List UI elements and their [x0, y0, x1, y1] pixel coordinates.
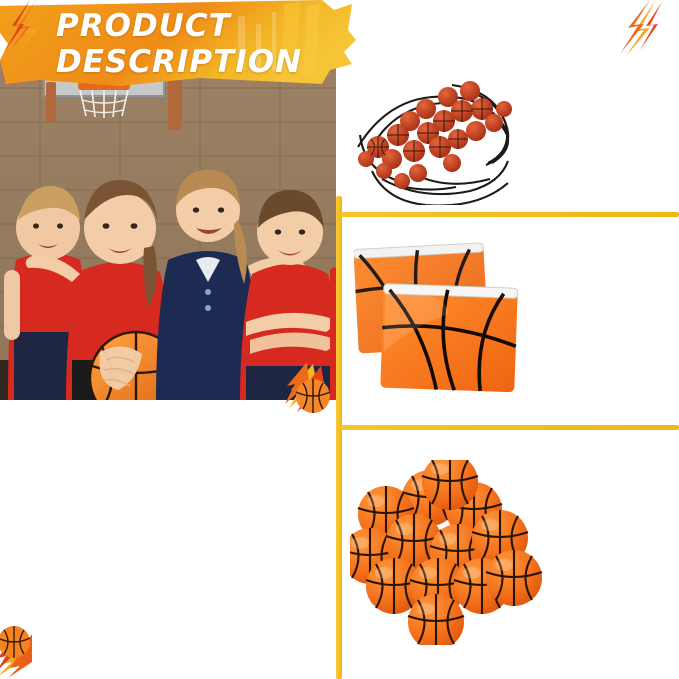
flame-streak-top-left-icon [2, 0, 60, 62]
product-cell-basketball-stickers: Volley HOME BASKETBALL BASKETBALL Guard … [0, 402, 336, 679]
flame-streak-top-right-icon [612, 0, 674, 58]
flaming-basketball-mid-icon [283, 362, 341, 418]
page-title-line1: PRODUCT [56, 8, 356, 44]
product-cell-mini-basketball: Mini basketball *30pcs [346, 435, 516, 635]
product-cell-eva-makeup-bag: EVA makeup bag *30pcs [346, 222, 516, 402]
horizontal-divider-bottom [341, 425, 679, 430]
page-title: PRODUCT DESCRIPTION [56, 8, 356, 80]
mini-basketball-product-image [350, 460, 544, 645]
title-banner: PRODUCT DESCRIPTION [0, 0, 360, 90]
vertical-divider [336, 196, 342, 679]
eva-makeup-bag-product-image [354, 232, 524, 397]
product-cell-wristband: Wristband *30pcs [346, 40, 516, 210]
wristband-product-image [352, 55, 518, 205]
flaming-basketball-bottom-left-icon [0, 624, 52, 678]
hero-photo [0, 60, 336, 400]
page-title-line2: DESCRIPTION [56, 44, 356, 80]
horizontal-divider-top [341, 212, 679, 217]
product-description-page: PRODUCT DESCRIPTION [0, 0, 679, 679]
